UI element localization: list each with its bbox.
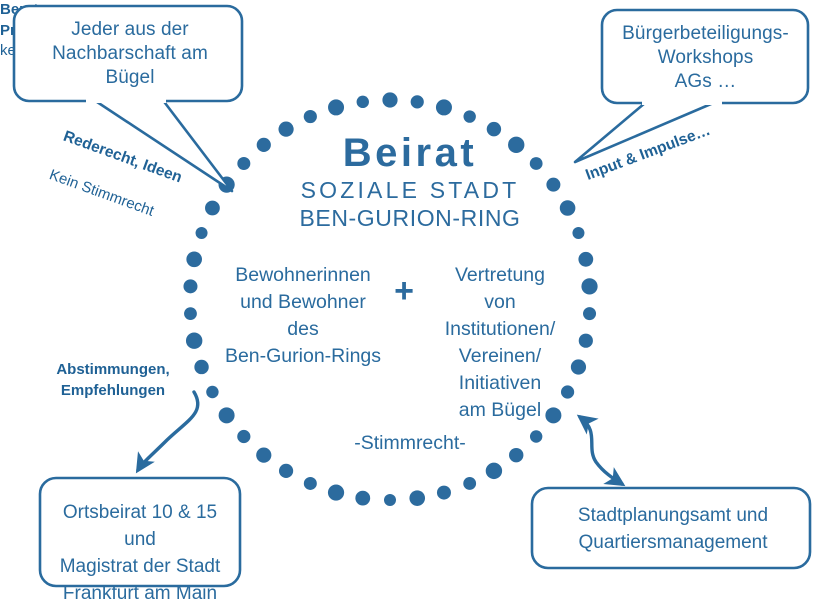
box-bottom-right-label: Stadtplanungsamt und Quartiersmanagement xyxy=(536,503,810,557)
diagram-canvas: Jeder aus der Nachbarschaft am Bügel Bür… xyxy=(0,0,820,600)
voting-rights-note: -Stimmrecht- xyxy=(0,431,820,455)
speech-bubble-top-right-label: Bürgerbeteiligungs- Workshops AGs … xyxy=(608,22,803,93)
connector-label-bottom-left: Abstimmungen, Empfehlungen xyxy=(38,359,188,401)
members-residents-column: Bewohnerinnen und Bewohner des Ben-Gurio… xyxy=(218,262,388,370)
members-institutions-column: Vertretung von Institutionen/ Vereinen/ … xyxy=(424,262,576,423)
speech-bubble-top-left-label: Jeder aus der Nachbarschaft am Bügel xyxy=(30,18,230,89)
box-bottom-left-label: Ortsbeirat 10 & 15 und Magistrat der Sta… xyxy=(42,500,238,608)
plus-icon: + xyxy=(386,274,422,308)
